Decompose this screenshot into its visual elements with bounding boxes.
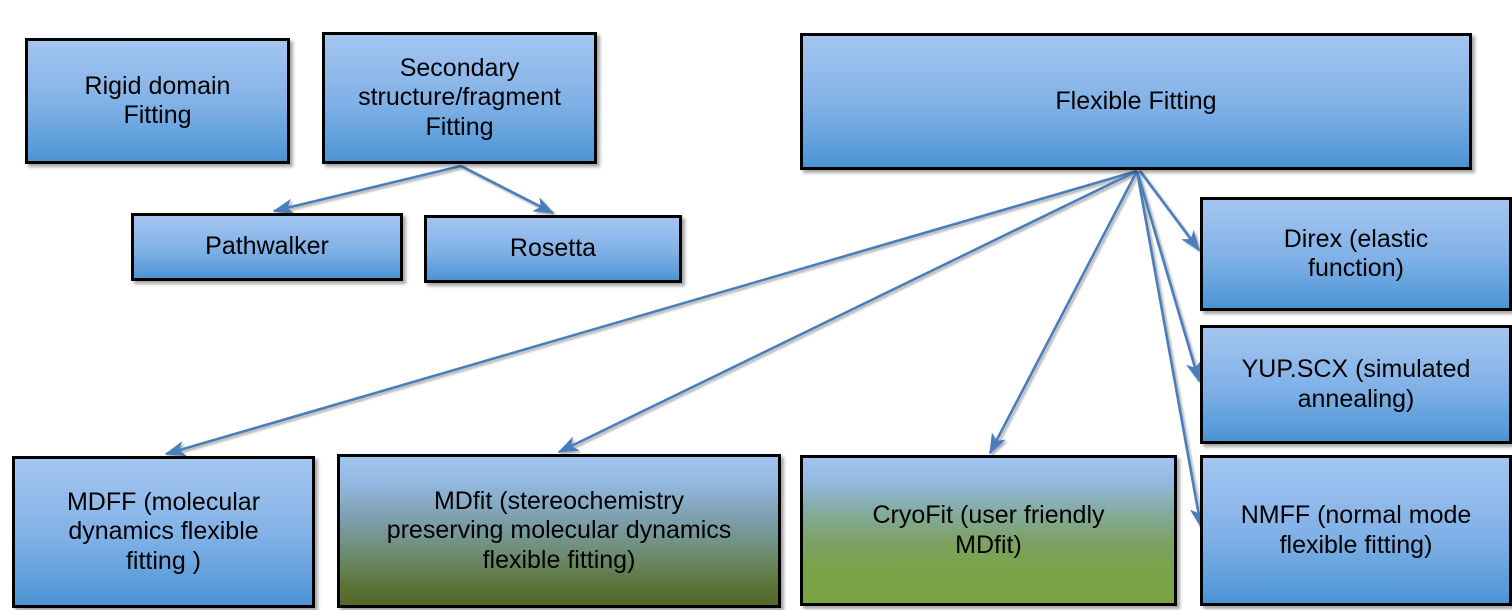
node-label-line: annealing) — [1242, 385, 1471, 415]
node-label-line: CryoFit (user friendly — [873, 501, 1105, 531]
node-label: MDfit (stereochemistrypreserving molecul… — [387, 487, 732, 576]
node-mdfit[interactable]: MDfit (stereochemistrypreserving molecul… — [337, 454, 781, 608]
node-label-line: function) — [1284, 254, 1428, 284]
node-label: YUP.SCX (simulatedannealing) — [1242, 355, 1471, 414]
node-rigid-domain-fitting[interactable]: Rigid domainFitting — [25, 38, 290, 164]
node-rosetta[interactable]: Rosetta — [424, 215, 682, 283]
node-label-line: Secondary — [358, 54, 561, 84]
node-label-line: dynamics flexible — [67, 517, 260, 547]
node-label-line: flexible fitting) — [387, 546, 732, 576]
node-label-line: fitting ) — [67, 547, 260, 577]
node-label: Rigid domainFitting — [85, 72, 231, 131]
node-label-line: Rigid domain — [85, 72, 231, 102]
node-label-line: structure/fragment — [358, 83, 561, 113]
node-label-line: MDfit (stereochemistry — [387, 487, 732, 517]
node-label-line: flexible fitting) — [1241, 531, 1472, 561]
node-flexible-fitting[interactable]: Flexible Fitting — [800, 33, 1472, 170]
node-mdff[interactable]: MDFF (moleculardynamics flexiblefitting … — [12, 456, 315, 608]
node-pathwalker[interactable]: Pathwalker — [131, 213, 403, 281]
node-label-line: Pathwalker — [205, 232, 329, 262]
node-label-line: MDfit) — [873, 531, 1105, 561]
node-label: Secondarystructure/fragmentFitting — [358, 54, 561, 143]
node-label-line: NMFF (normal mode — [1241, 501, 1472, 531]
node-yup-scx[interactable]: YUP.SCX (simulatedannealing) — [1200, 325, 1512, 444]
node-label-line: preserving molecular dynamics — [387, 516, 732, 546]
edge-secondary-to-rosetta — [461, 166, 553, 213]
node-label: CryoFit (user friendlyMDfit) — [873, 501, 1105, 560]
node-secondary-structure-fragment-fitting[interactable]: Secondarystructure/fragmentFitting — [322, 32, 597, 164]
node-label-line: YUP.SCX (simulated — [1242, 355, 1471, 385]
edge-secondary-to-pathwalker — [274, 166, 461, 211]
diagram-canvas: Rigid domainFittingSecondarystructure/fr… — [0, 0, 1512, 610]
edge-flexible-to-yupscx — [1137, 171, 1199, 381]
edge-flexible-to-mdfit — [559, 171, 1137, 452]
node-label: NMFF (normal modeflexible fitting) — [1241, 501, 1472, 560]
edge-flexible-to-direx — [1140, 171, 1199, 250]
node-label-line: MDFF (molecular — [67, 488, 260, 518]
node-label: Flexible Fitting — [1055, 87, 1216, 117]
node-label: Pathwalker — [205, 232, 329, 262]
node-nmff[interactable]: NMFF (normal modeflexible fitting) — [1200, 455, 1512, 606]
edge-flexible-to-cryofit — [990, 171, 1137, 453]
node-label: MDFF (moleculardynamics flexiblefitting … — [67, 488, 260, 577]
node-label-line: Fitting — [358, 113, 561, 143]
node-label-line: Flexible Fitting — [1055, 87, 1216, 117]
node-label-line: Direx (elastic — [1284, 225, 1428, 255]
node-label-line: Rosetta — [510, 234, 596, 264]
node-label-line: Fitting — [85, 101, 231, 131]
node-cryofit[interactable]: CryoFit (user friendlyMDfit) — [800, 455, 1177, 606]
node-direx[interactable]: Direx (elasticfunction) — [1200, 197, 1512, 311]
node-label: Rosetta — [510, 234, 596, 264]
node-label: Direx (elasticfunction) — [1284, 225, 1428, 284]
